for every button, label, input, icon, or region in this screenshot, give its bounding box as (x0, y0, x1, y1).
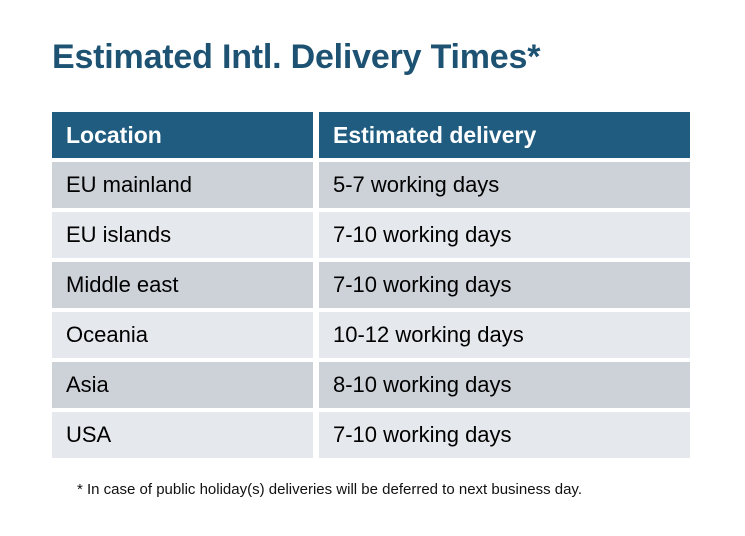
cell-delivery: 7-10 working days (319, 262, 690, 308)
table-row: EU islands 7-10 working days (52, 212, 690, 258)
cell-delivery: 8-10 working days (319, 362, 690, 408)
cell-location: Oceania (52, 312, 313, 358)
table-row: EU mainland 5-7 working days (52, 162, 690, 208)
cell-location: Asia (52, 362, 313, 408)
cell-delivery: 7-10 working days (319, 212, 690, 258)
table-row: Oceania 10-12 working days (52, 312, 690, 358)
delivery-times-page: Estimated Intl. Delivery Times* Location… (0, 0, 745, 536)
table-row: Asia 8-10 working days (52, 362, 690, 408)
column-header-location: Location (52, 112, 313, 158)
table-row: USA 7-10 working days (52, 412, 690, 458)
cell-location: Middle east (52, 262, 313, 308)
cell-delivery: 7-10 working days (319, 412, 690, 458)
column-header-estimated-delivery: Estimated delivery (319, 112, 690, 158)
cell-delivery: 5-7 working days (319, 162, 690, 208)
cell-location: USA (52, 412, 313, 458)
cell-delivery: 10-12 working days (319, 312, 690, 358)
footnote-text: * In case of public holiday(s) deliverie… (77, 481, 582, 498)
delivery-times-table: Location Estimated delivery EU mainland … (52, 112, 690, 458)
table-header-row: Location Estimated delivery (52, 112, 690, 158)
cell-location: EU islands (52, 212, 313, 258)
table-row: Middle east 7-10 working days (52, 262, 690, 308)
cell-location: EU mainland (52, 162, 313, 208)
page-title: Estimated Intl. Delivery Times* (52, 38, 540, 77)
